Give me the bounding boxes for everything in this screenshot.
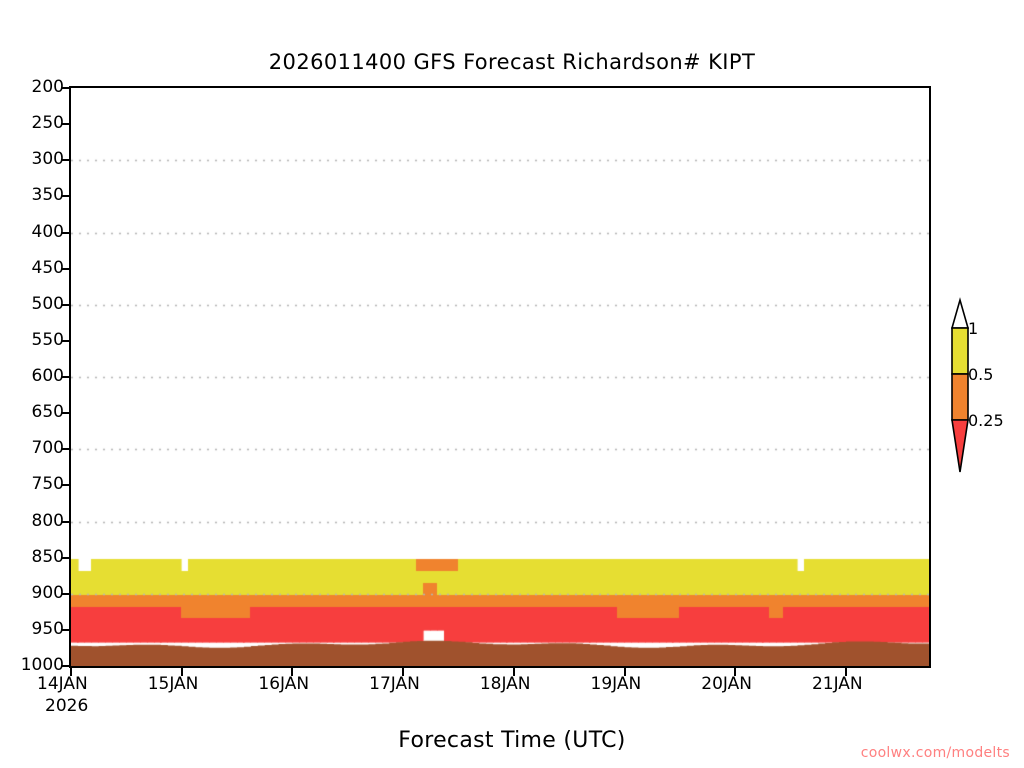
- x-tick-label: 16JAN: [258, 674, 309, 694]
- x-tick-label: 19JAN: [591, 674, 642, 694]
- y-tick-label: 350: [2, 185, 64, 205]
- x-tick-label: 18JAN: [480, 674, 531, 694]
- x-axis-year-label: 2026: [45, 696, 88, 716]
- y-tick-label: 950: [2, 619, 64, 639]
- chart-root: 2026011400 GFS Forecast Richardson# KIPT…: [0, 0, 1024, 768]
- y-tick-label: 550: [2, 330, 64, 350]
- y-axis: 2002503003504004505005506006507007508008…: [0, 86, 64, 668]
- colorbar-legend: 1 0.5 0.25: [938, 292, 1024, 492]
- y-tick-label: 450: [2, 258, 64, 278]
- colorbar-label-0_25: 0.25: [968, 411, 1004, 430]
- y-tick-label: 850: [2, 547, 64, 567]
- y-tick-label: 1000: [2, 655, 64, 675]
- y-tick-label: 800: [2, 511, 64, 531]
- y-tick-label: 900: [2, 583, 64, 603]
- y-tick-label: 650: [2, 402, 64, 422]
- x-tick-label: 20JAN: [701, 674, 752, 694]
- y-tick-label: 400: [2, 222, 64, 242]
- x-tick-label: 17JAN: [369, 674, 420, 694]
- x-tick-label: 21JAN: [812, 674, 863, 694]
- y-tick-label: 200: [2, 77, 64, 97]
- colorbar-label-0_5: 0.5: [968, 365, 993, 384]
- colorbar-svg: [938, 292, 1024, 492]
- plot-area: [69, 86, 931, 668]
- x-axis: 14JAN202615JAN16JAN17JAN18JAN19JAN20JAN2…: [69, 668, 931, 728]
- x-tick-label: 14JAN: [37, 674, 88, 694]
- y-tick-label: 750: [2, 474, 64, 494]
- y-tick-label: 300: [2, 149, 64, 169]
- y-tick-label: 700: [2, 438, 64, 458]
- y-tick-label: 600: [2, 366, 64, 386]
- chart-title: 2026011400 GFS Forecast Richardson# KIPT: [0, 50, 1024, 74]
- x-tick-label: 15JAN: [148, 674, 199, 694]
- gridlines-canvas: [71, 88, 929, 666]
- colorbar-label-1: 1: [968, 319, 978, 338]
- y-tick-label: 500: [2, 294, 64, 314]
- credit-watermark: coolwx.com/modelts: [861, 745, 1010, 761]
- y-tick-label: 250: [2, 113, 64, 133]
